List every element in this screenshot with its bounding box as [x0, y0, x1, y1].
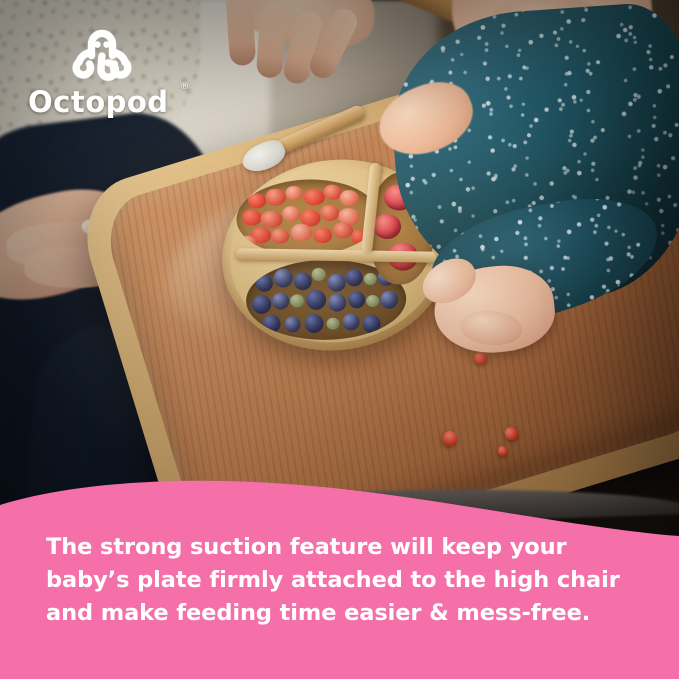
brand-name: Octopod — [28, 88, 208, 117]
trademark-symbol: ® — [180, 82, 189, 92]
adult-finger — [225, 0, 256, 66]
baby-hand-reaching-plate — [419, 242, 580, 367]
adult-finger — [256, 3, 287, 79]
brand-logo: Octopod ® — [28, 26, 208, 118]
marketing-banner: The strong suction feature will keep you… — [0, 479, 679, 679]
spilled-strawberry-piece — [498, 446, 507, 456]
logo-eye-left — [94, 41, 101, 48]
octopus-logo-icon — [64, 26, 140, 88]
logo-eye-right — [103, 41, 110, 48]
product-lifestyle-poster: Octopod ® The strong suction feature wil… — [0, 0, 679, 679]
banner-headline: The strong suction feature will keep you… — [46, 531, 646, 630]
